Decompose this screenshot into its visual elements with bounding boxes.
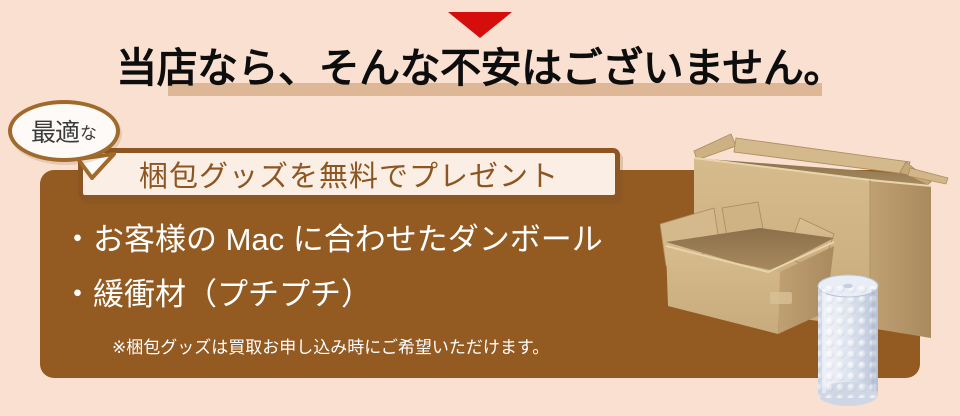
badge-text: 最適 な — [12, 104, 116, 158]
badge-main-label: 最適 — [31, 113, 79, 149]
packing-supplies-photo — [648, 96, 960, 416]
feature-list: ・お客様の Mac に合わせたダンボール ・緩衝材（プチプチ） — [62, 212, 682, 322]
promo-banner: 当店なら、そんな不安はございません。 梱包グッズを無料でプレゼント 最適 な ・… — [0, 0, 960, 416]
offer-title-text: 梱包グッズを無料でプレゼント — [139, 153, 559, 195]
triangle-down-icon — [448, 12, 512, 38]
bubble-wrap-roll — [816, 275, 882, 406]
page-title: 当店なら、そんな不安はございません。 — [116, 40, 844, 96]
status-badge: 最適 な — [8, 100, 120, 162]
disclaimer-note: ※梱包グッズは買取お申し込み時にご希望いただけます。 — [112, 336, 549, 360]
small-open-cardboard-box — [660, 202, 834, 334]
list-item: ・緩衝材（プチプチ） — [62, 267, 682, 322]
offer-title-plate: 梱包グッズを無料でプレゼント — [78, 148, 620, 200]
offer-title: 梱包グッズを無料でプレゼント — [83, 153, 615, 195]
list-item: ・お客様の Mac に合わせたダンボール — [62, 212, 682, 267]
headline-block: 当店なら、そんな不安はございません。 — [0, 40, 960, 100]
badge-suffix-label: な — [80, 119, 97, 144]
